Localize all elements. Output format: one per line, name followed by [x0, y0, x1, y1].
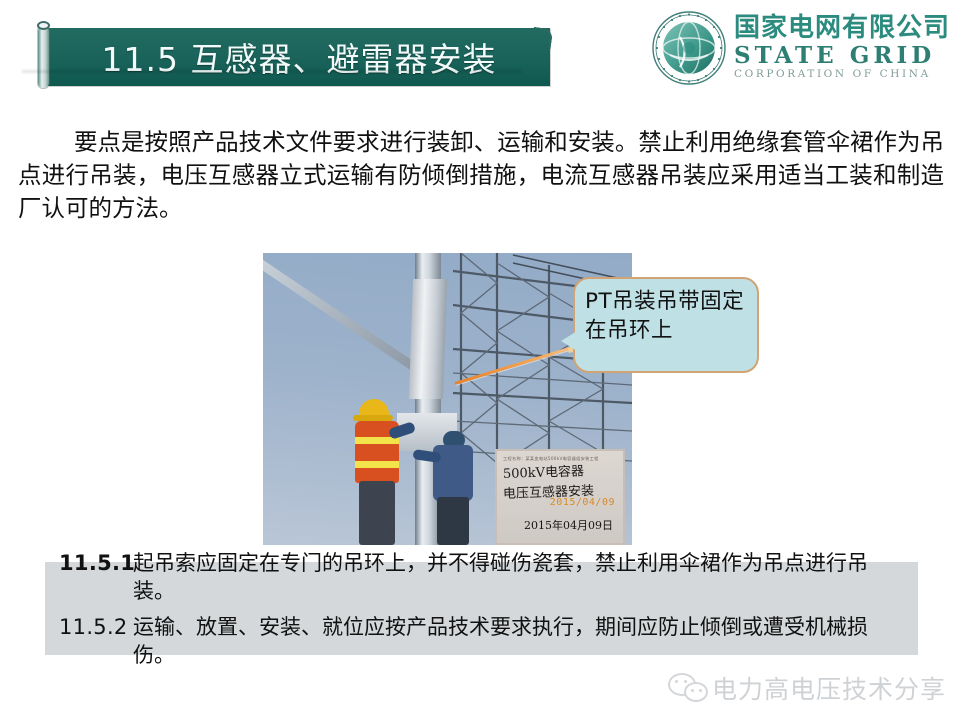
- logo-english-name: STATE GRID: [734, 43, 950, 68]
- wechat-bubble-small: [684, 682, 708, 702]
- title-banner: 11.5 互感器、避雷器安装: [30, 18, 550, 90]
- worker-legs: [359, 481, 395, 545]
- page-title: 11.5 互感器、避雷器安装: [48, 28, 550, 86]
- watermark-text: 电力高电压技术分享: [712, 670, 946, 706]
- logo-wordmark: 国家电网有限公司 STATE GRID CORPORATION OF CHINA: [734, 15, 950, 80]
- wechat-icon: [668, 673, 712, 703]
- callout-tail: [561, 331, 577, 351]
- wechat-dot: [675, 680, 678, 683]
- sign-date-stamp: 2015/04/09: [550, 497, 615, 508]
- watermark: 电力高电压技术分享: [668, 668, 946, 708]
- state-grid-logo: 国家电网有限公司 STATE GRID CORPORATION OF CHINA: [650, 6, 950, 90]
- logo-chinese-name: 国家电网有限公司: [734, 15, 950, 42]
- worker-left: [349, 399, 413, 545]
- note-number: 11.5.1: [59, 551, 133, 575]
- note-text: 起吊索应固定在专门的吊环上，并不得碰伤瓷套，禁止利用伞裙作为吊点进行吊装。: [133, 549, 908, 605]
- sign-date-handwritten: 2015年04月09日: [524, 517, 613, 533]
- note-item: 11.5.1 起吊索应固定在专门的吊环上，并不得碰伤瓷套，禁止利用伞裙作为吊点进…: [59, 549, 908, 605]
- sign-handwriting-line-1: 500kV电容器: [503, 463, 617, 483]
- note-text: 运输、放置、安装、就位应按产品技术要求执行，期间应防止倾倒或遭受机械损伤。: [133, 613, 908, 669]
- wechat-dot: [684, 680, 687, 683]
- site-information-board: 工程名称：某某变电站500kV电容器组安装工程 500kV电容器 电压互感器安装…: [495, 449, 625, 545]
- note-item: 11.5.2 运输、放置、安装、就位应按产品技术要求执行，期间应防止倾倒或遭受机…: [59, 613, 908, 669]
- notes-panel: 11.5.1 起吊索应固定在专门的吊环上，并不得碰伤瓷套，禁止利用伞裙作为吊点进…: [45, 562, 918, 655]
- scroll-rod-decoration: [38, 26, 49, 88]
- title-bar: 11.5 互感器、避雷器安装: [48, 28, 550, 86]
- slide-canvas: 11.5 互感器、避雷器安装: [0, 0, 960, 720]
- worker-right: [429, 439, 485, 545]
- logo-english-subtitle: CORPORATION OF CHINA: [734, 68, 950, 81]
- wechat-dot: [691, 689, 694, 692]
- callout-box: PT吊装吊带固定在吊环上: [573, 277, 759, 373]
- vest-stripe: [355, 461, 399, 468]
- body-paragraph: 要点是按照产品技术文件要求进行装卸、运输和安装。禁止利用绝缘套管伞裙作为吊点进行…: [18, 126, 944, 225]
- banner-shadow: [22, 70, 522, 73]
- wechat-dot: [699, 689, 702, 692]
- state-grid-emblem-icon: [650, 9, 728, 87]
- pole-wrapping: [409, 279, 447, 399]
- scroll-knob-icon: [37, 21, 50, 30]
- callout-text: PT吊装吊带固定在吊环上: [585, 287, 747, 345]
- sign-header: 工程名称：某某变电站500kV电容器组安装工程: [503, 456, 617, 462]
- note-number: 11.5.2: [59, 615, 133, 639]
- worker-legs: [437, 497, 469, 545]
